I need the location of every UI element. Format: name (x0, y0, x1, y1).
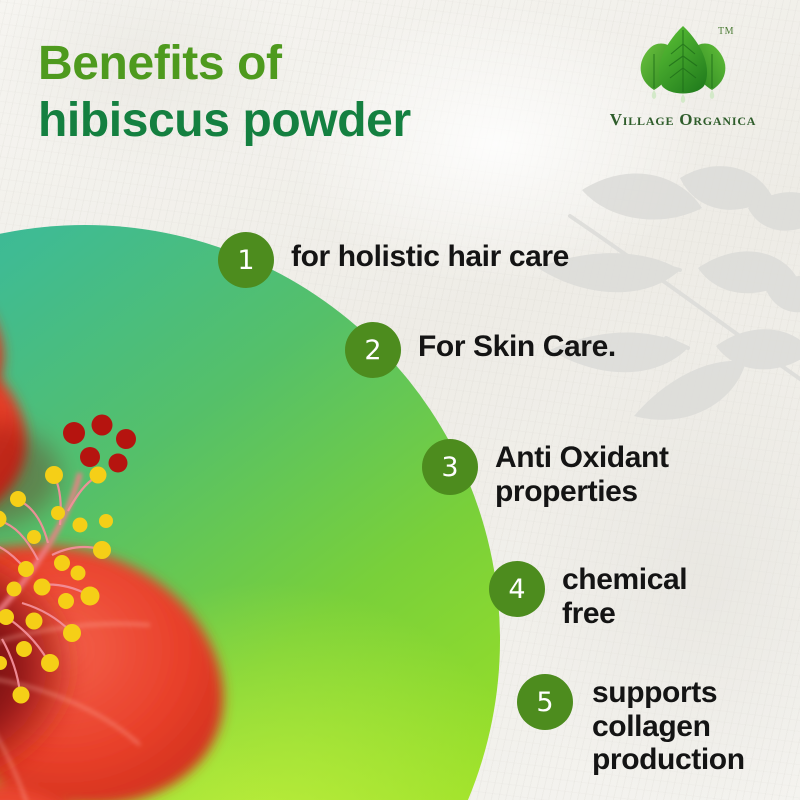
infographic-poster: Benefits of hibiscus powder (0, 0, 800, 800)
hibiscus-flower-illustration (0, 225, 500, 800)
benefit-label: For Skin Care. (418, 322, 616, 364)
trademark-symbol: TM (718, 26, 734, 37)
benefit-label: chemical free (562, 561, 687, 630)
title-line-one: Benefits of (38, 36, 578, 93)
page-title: Benefits of hibiscus powder (38, 36, 578, 149)
benefit-item-3: 3 Anti Oxidant properties (422, 439, 669, 508)
benefit-label: Anti Oxidant properties (495, 439, 669, 508)
benefit-number-badge: 2 (345, 322, 401, 378)
benefit-number-badge: 3 (422, 439, 478, 495)
leaf-trio-icon: TM (628, 18, 738, 104)
hibiscus-photo-circle (0, 225, 500, 800)
benefit-item-4: 4 chemical free (489, 561, 687, 630)
benefit-item-5: 5 supports collagen production (517, 674, 745, 777)
title-line-two: hibiscus powder (38, 93, 578, 150)
fern-frond-watermark-icon (530, 150, 800, 420)
brand-name: Village Organica (588, 110, 778, 130)
benefit-number-badge: 1 (218, 232, 274, 288)
brand-logo[interactable]: TM Village Organica (588, 18, 778, 130)
benefit-number-badge: 4 (489, 561, 545, 617)
benefit-label: supports collagen production (592, 674, 745, 777)
benefit-item-1: 1 for holistic hair care (218, 232, 569, 288)
benefit-item-2: 2 For Skin Care. (345, 322, 616, 378)
benefit-label: for holistic hair care (291, 232, 569, 274)
benefit-number-badge: 5 (517, 674, 573, 730)
